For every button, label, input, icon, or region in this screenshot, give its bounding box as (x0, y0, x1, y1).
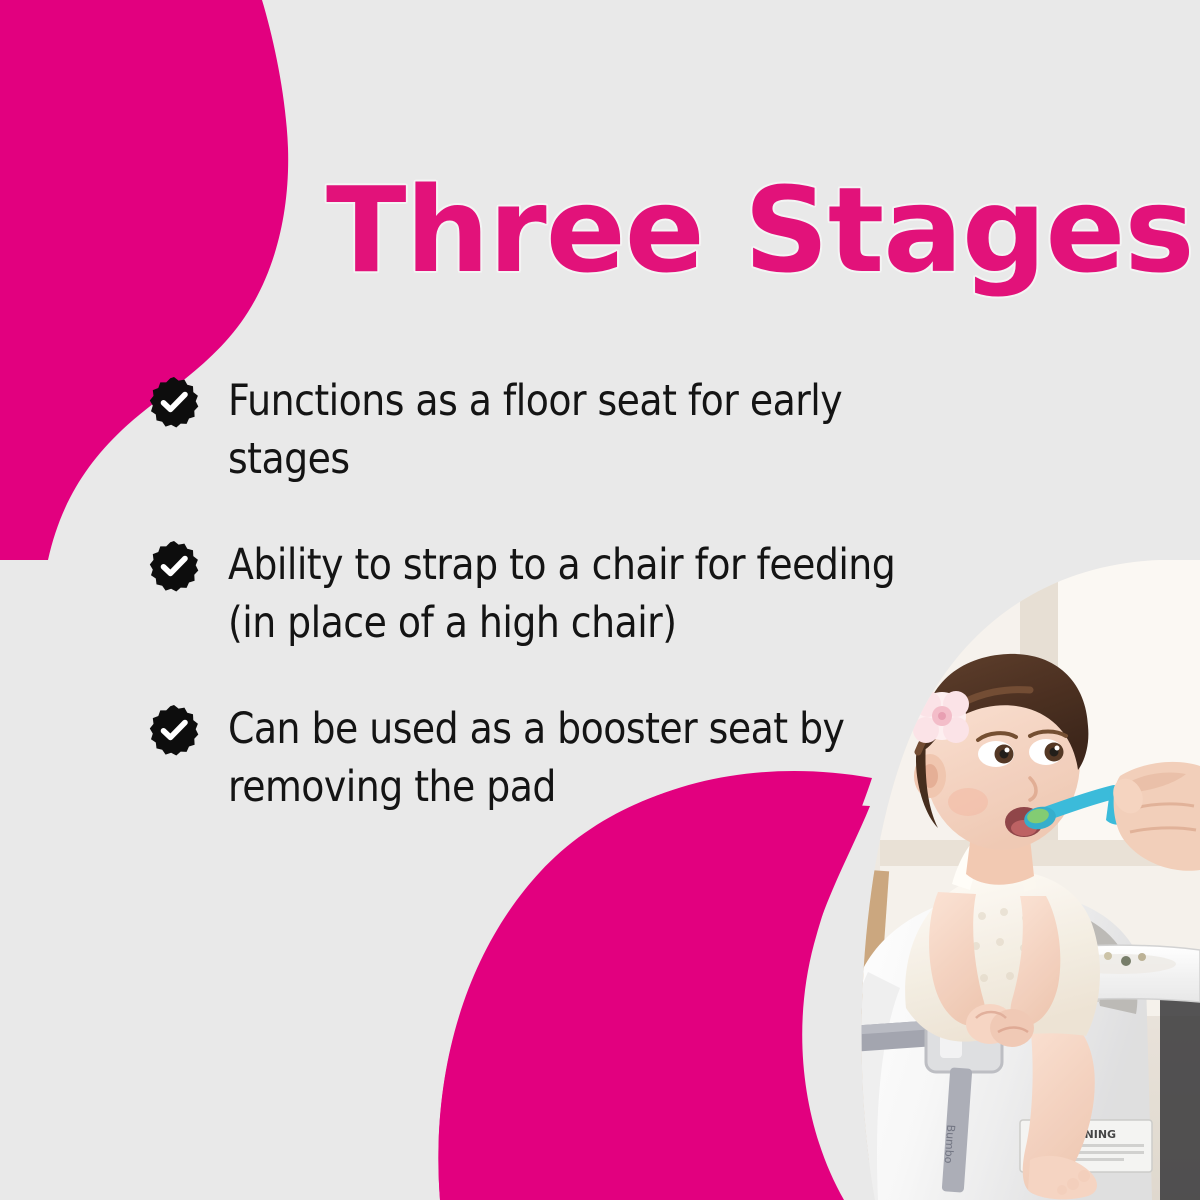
list-item: Can be used as a booster seat by removin… (148, 700, 1048, 816)
list-item: Ability to strap to a chair for feeding … (148, 536, 1048, 652)
list-item-label: Functions as a floor seat for early stag… (228, 372, 950, 488)
svg-text:Bumbo: Bumbo (772, 1037, 819, 1055)
list-item-label: Can be used as a booster seat by removin… (228, 700, 844, 816)
feature-list: Functions as a floor seat for early stag… (148, 372, 1048, 816)
list-item: Functions as a floor seat for early stag… (148, 372, 1048, 488)
list-item-label: Ability to strap to a chair for feeding … (228, 536, 895, 652)
check-badge-icon (148, 376, 200, 428)
check-badge-icon (148, 704, 200, 756)
poster-canvas: Bumbo Bumbo WARNING (0, 0, 1200, 1200)
page-title: Three Stages (326, 166, 1126, 294)
check-badge-icon (148, 540, 200, 592)
